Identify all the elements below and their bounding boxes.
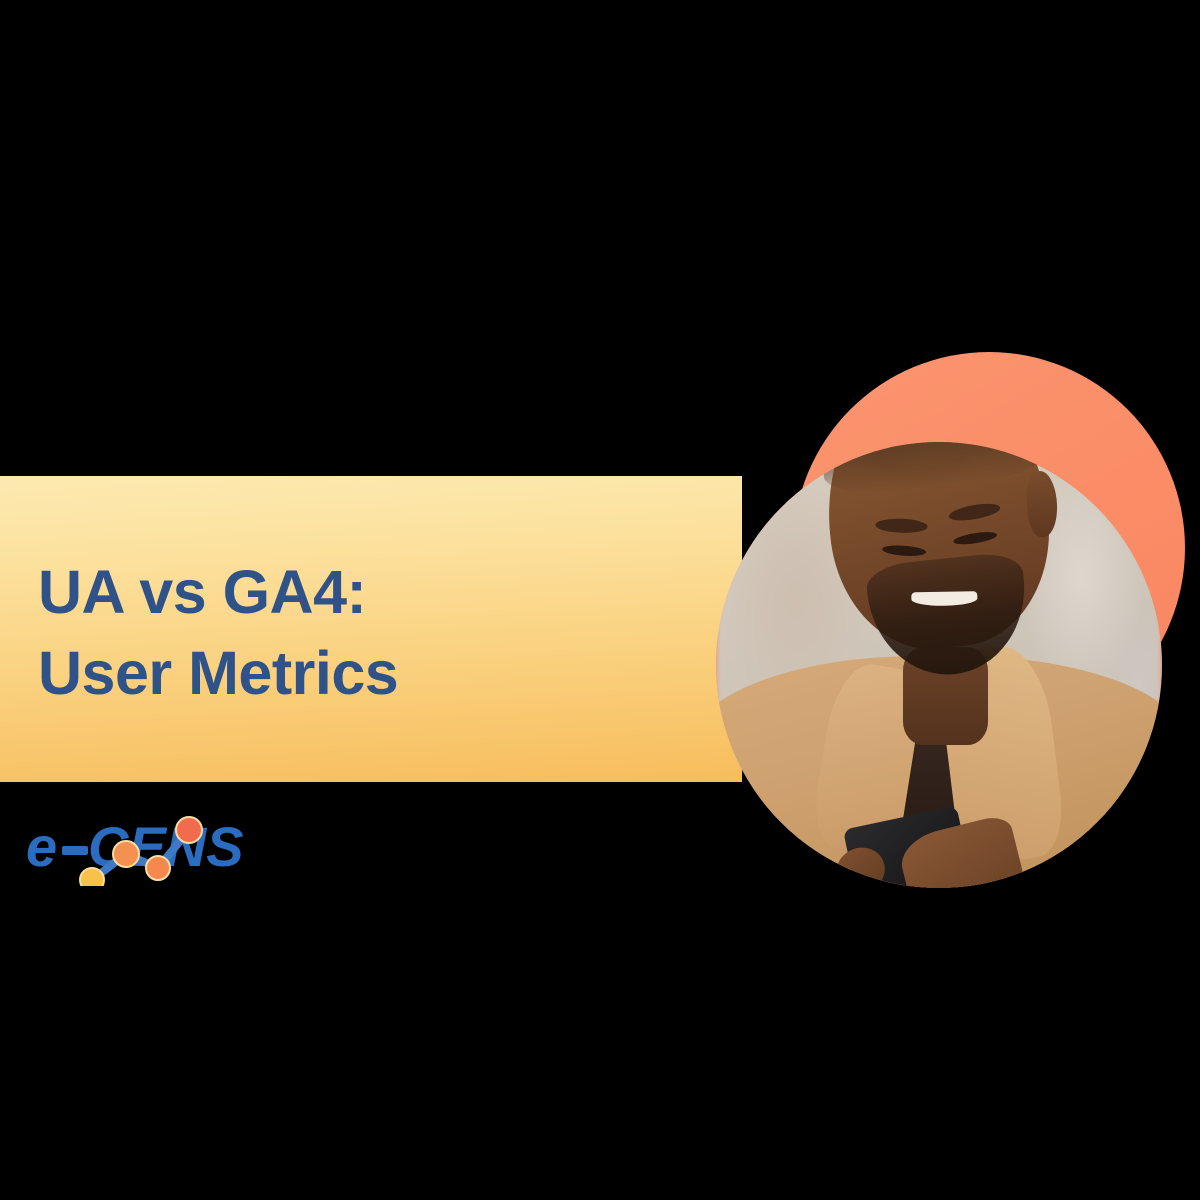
ecens-logo[interactable]: e CENS	[26, 808, 256, 886]
logo-dot-2	[113, 841, 139, 867]
hair-shape	[814, 442, 1043, 498]
logo-svg: e CENS	[26, 808, 256, 886]
logo-dot-1	[176, 817, 202, 843]
eyebrow-left	[875, 517, 928, 533]
hero-photo-circle	[716, 442, 1162, 888]
logo-dot-3	[146, 856, 170, 880]
logo-dash	[62, 846, 88, 855]
logo-dot-4	[80, 868, 104, 886]
poster-canvas: UA vs GA4: User Metrics	[0, 0, 1200, 1200]
eye-right	[953, 529, 998, 545]
hero-photo-clip	[716, 442, 1162, 888]
page-title: UA vs GA4: User Metrics	[38, 552, 698, 713]
eye-left	[882, 544, 926, 557]
logo-wordmark-e: e	[26, 815, 57, 878]
eyebrow-right	[947, 501, 1001, 524]
